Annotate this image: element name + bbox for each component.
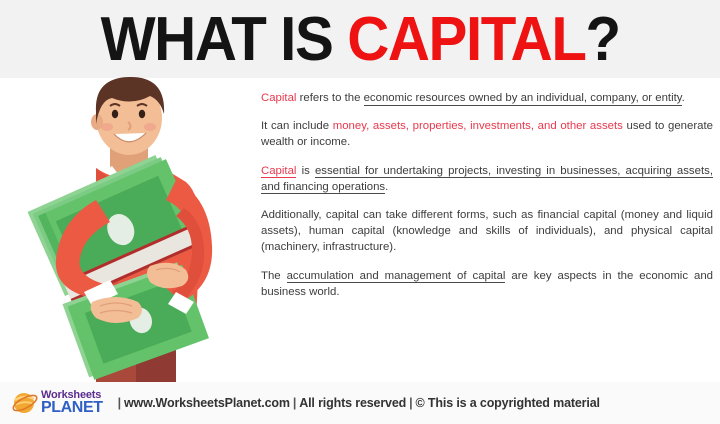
paragraph-5: The accumulation and management of capit… (261, 268, 713, 300)
illustration-man-with-money (0, 70, 258, 385)
text-run-plain: The (261, 270, 287, 282)
footer-website: www.WorksheetsPlanet.com (124, 396, 290, 410)
paragraph-2: It can include money, assets, properties… (261, 118, 713, 150)
text-run-plain: Additionally, capital can take different… (261, 209, 713, 253)
text-run-plain: refers to the (296, 92, 363, 104)
footer-separator-3: | (406, 396, 415, 410)
footer-separator-1: | (115, 396, 124, 410)
paragraph-4: Additionally, capital can take different… (261, 207, 713, 256)
footer-copyright-mark: © (416, 396, 428, 410)
footer-copyright-text: This is a copyrighted material (428, 396, 600, 410)
definition-text-block: Capital refers to the economic resources… (261, 90, 713, 300)
footer-rights: All rights reserved (299, 396, 406, 410)
text-run-plain: It can include (261, 120, 333, 132)
text-run-plain: . (682, 92, 685, 104)
footer-bar: Worksheets PLANET |www.WorksheetsPlanet.… (0, 382, 720, 424)
paragraph-1: Capital refers to the economic resources… (261, 90, 713, 106)
planet-globe-icon (12, 390, 38, 416)
text-run-red-underline: Capital (261, 165, 296, 179)
page-title: WHAT IS CAPITAL? (100, 9, 619, 71)
text-run-plain: is (296, 165, 314, 177)
worksheet-infographic: WHAT IS CAPITAL? (0, 0, 720, 424)
text-run-underline: accumulation and management of capital (287, 270, 506, 284)
title-question-mark: ? (585, 5, 619, 74)
worksheets-planet-logo[interactable]: Worksheets PLANET (12, 390, 103, 416)
text-run-red: Capital (261, 92, 296, 104)
header-banner: WHAT IS CAPITAL? (0, 0, 720, 78)
title-part-dark: WHAT IS (100, 5, 347, 74)
logo-line-planet: PLANET (41, 400, 103, 416)
title-part-red: CAPITAL (347, 5, 585, 74)
logo-wordmark: Worksheets PLANET (41, 390, 103, 416)
text-run-plain: . (385, 181, 388, 193)
text-run-underline: economic resources owned by an individua… (364, 92, 682, 106)
text-run-underline: essential for undertaking projects, inve… (261, 165, 713, 195)
footer-credits: |www.WorksheetsPlanet.com|All rights res… (115, 396, 600, 410)
footer-separator-2: | (290, 396, 299, 410)
head-group (91, 77, 164, 155)
paragraph-3: Capital is essential for undertaking pro… (261, 163, 713, 195)
text-run-red: money, assets, properties, investments, … (333, 120, 623, 132)
